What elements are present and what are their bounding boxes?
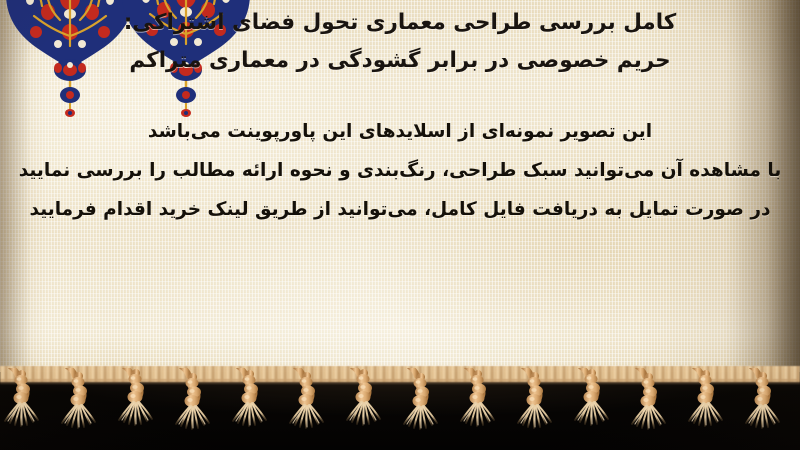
body-line-1: این تصویر نمونه‌ای از اسلایدهای این پاور… [14, 112, 786, 151]
carpet-selvedge-edge [0, 366, 800, 382]
title-line-1: کامل بررسی طراحی معماری تحول فضای اشتراک… [24, 4, 776, 42]
presentation-slide: کامل بررسی طراحی معماری تحول فضای اشتراک… [0, 0, 800, 450]
body-line-3: در صورت تمایل به دریافت فایل کامل، می‌تو… [14, 190, 786, 229]
slide-body-text: این تصویر نمونه‌ای از اسلایدهای این پاور… [0, 112, 800, 229]
slide-title: کامل بررسی طراحی معماری تحول فضای اشتراک… [0, 4, 800, 80]
title-line-2: حریم خصوصی در برابر گشودگی در معماری متر… [24, 42, 776, 80]
body-line-2: با مشاهده آن می‌توانید سبک طراحی، رنگ‌بن… [14, 151, 786, 190]
